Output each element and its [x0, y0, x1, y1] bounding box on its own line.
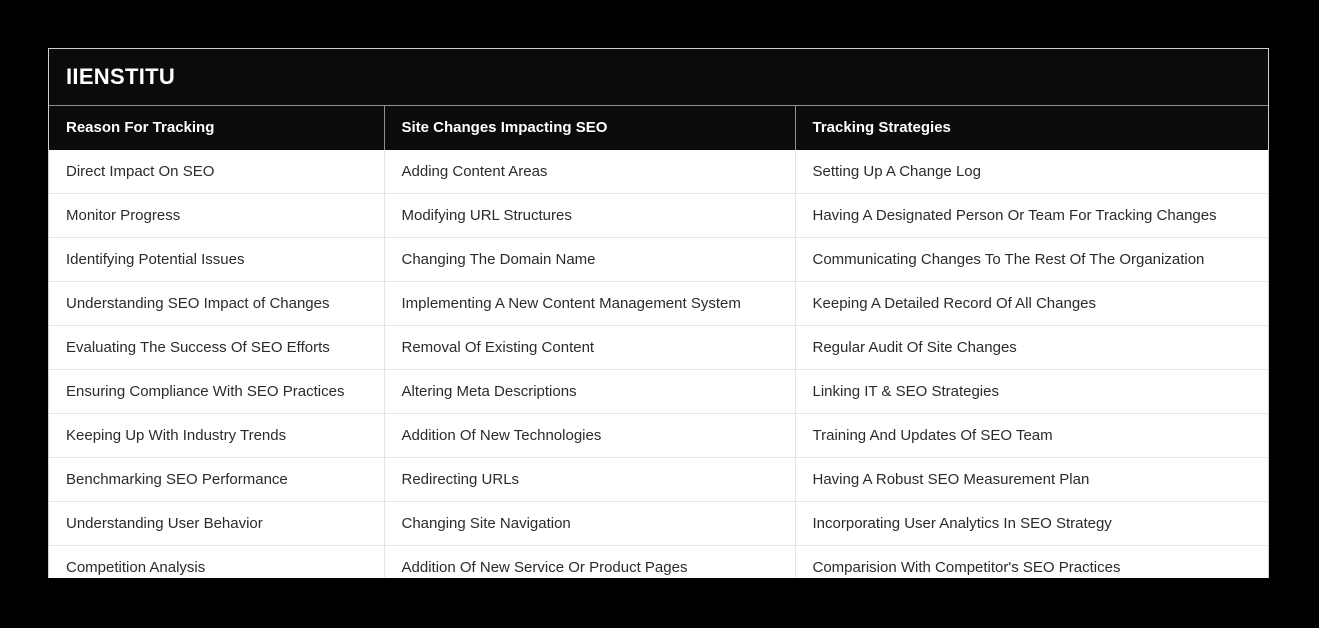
table-cell: Comparision With Competitor's SEO Practi… [795, 546, 1268, 579]
column-header-reason-for-tracking: Reason For Tracking [49, 106, 384, 150]
seo-tracking-table: Reason For Tracking Site Changes Impacti… [49, 106, 1268, 578]
table-cell: Altering Meta Descriptions [384, 370, 795, 414]
table-cell: Linking IT & SEO Strategies [795, 370, 1268, 414]
table-cell: Ensuring Compliance With SEO Practices [49, 370, 384, 414]
table-row: Ensuring Compliance With SEO Practices A… [49, 370, 1268, 414]
table-row: Monitor Progress Modifying URL Structure… [49, 194, 1268, 238]
table-cell: Understanding SEO Impact of Changes [49, 282, 384, 326]
table-row: Direct Impact On SEO Adding Content Area… [49, 150, 1268, 194]
table-cell: Having A Designated Person Or Team For T… [795, 194, 1268, 238]
table-cell: Direct Impact On SEO [49, 150, 384, 194]
table-cell: Identifying Potential Issues [49, 238, 384, 282]
table-cell: Regular Audit Of Site Changes [795, 326, 1268, 370]
table-cell: Communicating Changes To The Rest Of The… [795, 238, 1268, 282]
table-cell: Keeping Up With Industry Trends [49, 414, 384, 458]
table-row: Benchmarking SEO Performance Redirecting… [49, 458, 1268, 502]
table-cell: Incorporating User Analytics In SEO Stra… [795, 502, 1268, 546]
table-cell: Changing Site Navigation [384, 502, 795, 546]
page-root: IIENSTITU Reason For Tracking Site Chang… [0, 0, 1319, 628]
table-head: Reason For Tracking Site Changes Impacti… [49, 106, 1268, 150]
table-row: Keeping Up With Industry Trends Addition… [49, 414, 1268, 458]
table-row: Identifying Potential Issues Changing Th… [49, 238, 1268, 282]
table-cell: Competition Analysis [49, 546, 384, 579]
table-body: Direct Impact On SEO Adding Content Area… [49, 150, 1268, 578]
brand-header: IIENSTITU [49, 49, 1268, 106]
table-cell: Addition Of New Technologies [384, 414, 795, 458]
table-cell: Adding Content Areas [384, 150, 795, 194]
table-cell: Evaluating The Success Of SEO Efforts [49, 326, 384, 370]
table-row: Understanding User Behavior Changing Sit… [49, 502, 1268, 546]
brand-logo: IIENSTITU [66, 66, 175, 88]
table-row: Evaluating The Success Of SEO Efforts Re… [49, 326, 1268, 370]
table-cell: Understanding User Behavior [49, 502, 384, 546]
table-cell: Addition Of New Service Or Product Pages [384, 546, 795, 579]
table-header-row: Reason For Tracking Site Changes Impacti… [49, 106, 1268, 150]
table-cell: Training And Updates Of SEO Team [795, 414, 1268, 458]
table-cell: Benchmarking SEO Performance [49, 458, 384, 502]
table-cell: Implementing A New Content Management Sy… [384, 282, 795, 326]
table-cell: Removal Of Existing Content [384, 326, 795, 370]
table-cell: Changing The Domain Name [384, 238, 795, 282]
table-cell: Monitor Progress [49, 194, 384, 238]
seo-tracking-table-card: IIENSTITU Reason For Tracking Site Chang… [48, 48, 1269, 578]
table-row: Understanding SEO Impact of Changes Impl… [49, 282, 1268, 326]
column-header-tracking-strategies: Tracking Strategies [795, 106, 1268, 150]
table-cell: Having A Robust SEO Measurement Plan [795, 458, 1268, 502]
table-cell: Keeping A Detailed Record Of All Changes [795, 282, 1268, 326]
table-row: Competition Analysis Addition Of New Ser… [49, 546, 1268, 579]
table-cell: Redirecting URLs [384, 458, 795, 502]
table-cell: Setting Up A Change Log [795, 150, 1268, 194]
table-cell: Modifying URL Structures [384, 194, 795, 238]
column-header-site-changes-impacting-seo: Site Changes Impacting SEO [384, 106, 795, 150]
